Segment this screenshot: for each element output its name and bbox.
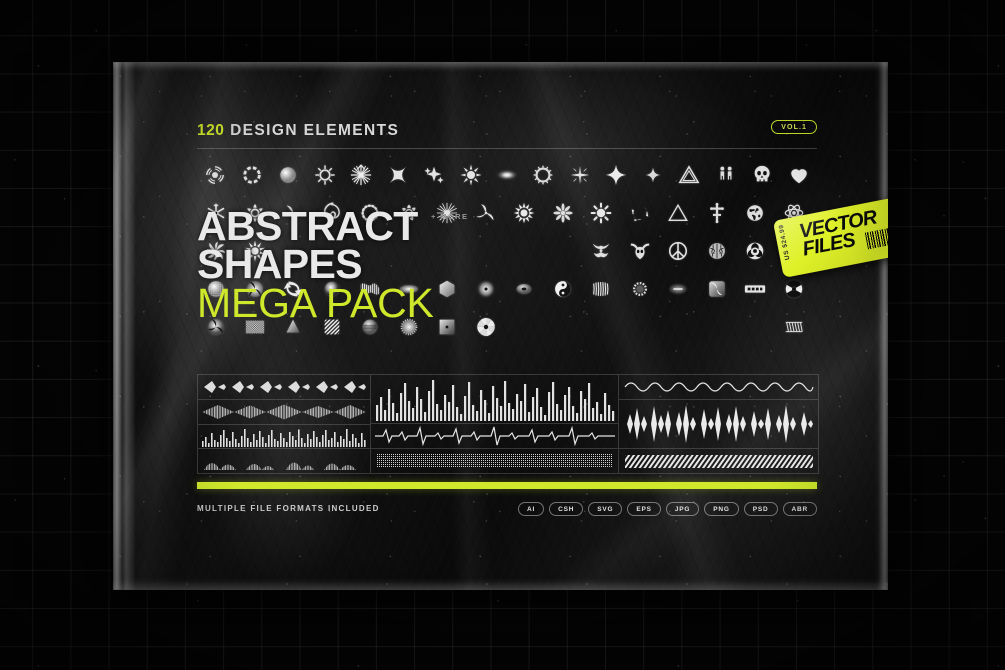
title-line-2: SHAPES bbox=[197, 246, 517, 284]
brain-icon bbox=[698, 232, 737, 270]
format-pill: AI bbox=[518, 502, 544, 516]
razor-blade-icon bbox=[736, 270, 775, 308]
hatch-square-icon bbox=[582, 308, 621, 346]
small-star-icon bbox=[635, 156, 671, 194]
header-title: 120 DESIGN ELEMENTS bbox=[197, 122, 399, 140]
triangle-outline-icon bbox=[671, 156, 707, 194]
yin-yang-icon bbox=[544, 270, 583, 308]
format-pill: PNG bbox=[704, 502, 739, 516]
title-line-3: MEGA PACK bbox=[197, 283, 517, 325]
header-count: 120 bbox=[197, 122, 224, 139]
dotted-matrix-waveform bbox=[371, 449, 618, 473]
glow-orb-icon bbox=[489, 156, 525, 194]
format-pill: PSD bbox=[744, 502, 778, 516]
waveform-column bbox=[198, 375, 371, 473]
gear-circle-icon bbox=[621, 270, 660, 308]
diagonal-hatch-waveform bbox=[619, 449, 818, 473]
peace-icon bbox=[659, 232, 698, 270]
recycle-arrows-icon bbox=[621, 194, 660, 232]
skull-icon bbox=[744, 156, 780, 194]
orthodox-cross-icon bbox=[698, 194, 737, 232]
four-point-star-icon bbox=[598, 156, 634, 194]
biohazard-icon bbox=[736, 232, 775, 270]
format-pill: CSH bbox=[549, 502, 583, 516]
footer-label: MULTIPLE FILE FORMATS INCLUDED bbox=[197, 504, 380, 513]
pulse-dots-waveform bbox=[198, 375, 370, 400]
header-title-rest: DESIGN ELEMENTS bbox=[224, 122, 399, 139]
waveform-column bbox=[371, 375, 619, 473]
format-pill-list: AI CSH SVG EPS JPG PNG PSD ABR bbox=[518, 502, 817, 516]
x-cross-icon bbox=[379, 156, 415, 194]
plastic-bag-mockup: 120 DESIGN ELEMENTS VOL.1 bbox=[113, 62, 888, 590]
waveform-column bbox=[619, 375, 818, 473]
wave-ring-icon bbox=[544, 232, 583, 270]
spiky-sun-icon bbox=[452, 156, 488, 194]
circle-gradient-icon bbox=[270, 156, 306, 194]
bag-left-edge bbox=[113, 62, 135, 590]
starburst-icon bbox=[343, 156, 379, 194]
bag-bottom-edge bbox=[113, 578, 888, 590]
sine-wave-waveform bbox=[619, 375, 818, 400]
globe-icon bbox=[736, 194, 775, 232]
volume-badge: VOL.1 bbox=[771, 120, 817, 134]
cone-icon bbox=[544, 308, 583, 346]
framed-dot-icon bbox=[698, 308, 737, 346]
hill-clusters-waveform bbox=[198, 449, 370, 473]
format-pill: JPG bbox=[666, 502, 699, 516]
format-pill: SVG bbox=[588, 502, 622, 516]
spiral-square-icon bbox=[698, 270, 737, 308]
cog-ring-icon bbox=[525, 156, 561, 194]
diamond-envelope-waveform bbox=[198, 400, 370, 425]
format-pill: ABR bbox=[783, 502, 817, 516]
gear-sun-icon bbox=[306, 156, 342, 194]
poster-header: 120 DESIGN ELEMENTS VOL.1 bbox=[197, 122, 817, 144]
four-point-cluster-icon bbox=[416, 156, 452, 194]
main-title: ABSTRACT SHAPES MEGA PACK bbox=[197, 208, 517, 325]
bag-right-edge bbox=[874, 62, 888, 590]
format-pill: EPS bbox=[627, 502, 660, 516]
accordion-icon bbox=[582, 270, 621, 308]
waveform-board bbox=[197, 374, 819, 474]
poster-footer: MULTIPLE FILE FORMATS INCLUDED AI CSH SV… bbox=[197, 502, 817, 518]
yellow-divider-bar bbox=[197, 482, 817, 489]
burst-waveform bbox=[619, 400, 818, 449]
poster-stage: 120 DESIGN ELEMENTS VOL.1 bbox=[0, 0, 1005, 670]
more-tag: + MORE bbox=[431, 212, 468, 221]
bag-top-edge bbox=[113, 62, 888, 72]
icon-row bbox=[197, 156, 817, 194]
sun-ring-icon bbox=[582, 194, 621, 232]
spectrum-bars-waveform bbox=[198, 425, 370, 450]
minus-oval-icon bbox=[659, 270, 698, 308]
pinwheel-ring-icon bbox=[736, 308, 775, 346]
sparkle-star-icon bbox=[562, 156, 598, 194]
ring-dashed-icon bbox=[233, 156, 269, 194]
two-figures-icon bbox=[708, 156, 744, 194]
spring-coil-icon bbox=[775, 308, 814, 346]
coin-icon bbox=[621, 308, 660, 346]
triangle-icon bbox=[659, 194, 698, 232]
header-divider bbox=[197, 148, 817, 149]
poster-content: 120 DESIGN ELEMENTS VOL.1 bbox=[197, 122, 817, 542]
tribal-icon bbox=[582, 232, 621, 270]
heartbeat-waveform bbox=[371, 424, 618, 449]
heart-icon bbox=[781, 156, 817, 194]
sunburst-spiral-icon bbox=[197, 156, 233, 194]
bull-skull-icon bbox=[621, 232, 660, 270]
equalizer-bars-waveform span bbox=[371, 375, 618, 424]
flower-burst-icon bbox=[544, 194, 583, 232]
sunburst-disc-icon bbox=[659, 308, 698, 346]
